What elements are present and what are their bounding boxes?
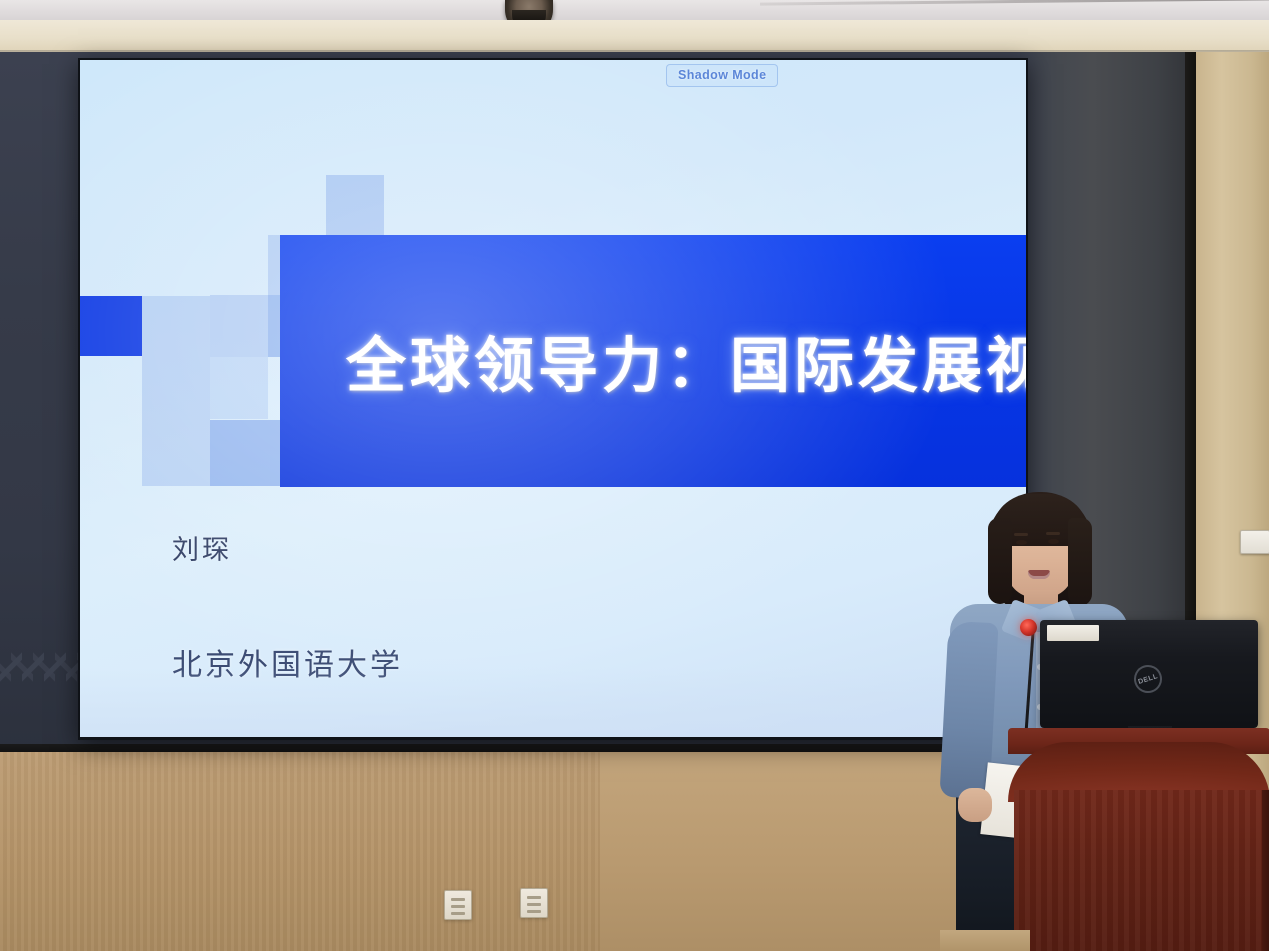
monitor-sticker bbox=[1047, 625, 1099, 641]
mosaic-square bbox=[142, 420, 210, 486]
eye-right bbox=[1048, 539, 1059, 544]
ceiling-beam bbox=[0, 20, 1269, 54]
mosaic-square bbox=[142, 296, 210, 356]
wall-outlet[interactable] bbox=[520, 888, 548, 918]
mosaic-square bbox=[142, 356, 210, 420]
presentation-slide: 全球领导力：国际发展视角 刘琛 北京外国语大学 bbox=[80, 60, 1026, 737]
slide-title: 全球领导力：国际发展视角 bbox=[346, 318, 1026, 405]
slide-presenter-name: 刘琛 bbox=[172, 528, 232, 567]
slide-affiliation: 北京外国语大学 bbox=[172, 640, 403, 684]
mosaic-square bbox=[326, 175, 384, 237]
mosaic-square bbox=[210, 357, 268, 419]
wall-outlet[interactable] bbox=[444, 890, 472, 920]
lower-wall-left bbox=[0, 752, 612, 951]
mouth bbox=[1028, 570, 1050, 579]
floor bbox=[940, 930, 1030, 951]
light-switch-plate[interactable] bbox=[1240, 530, 1269, 554]
podium-body bbox=[1014, 790, 1269, 951]
eyebrow-right bbox=[1046, 532, 1060, 535]
shadow-mode-badge: Shadow Mode bbox=[666, 64, 778, 87]
eye-left bbox=[1016, 540, 1027, 545]
mosaic-square bbox=[210, 295, 268, 357]
mosaic-square bbox=[210, 420, 280, 486]
hand-left bbox=[958, 788, 992, 822]
slide-title-banner: 全球领导力：国际发展视角 bbox=[280, 235, 1026, 487]
podium-side-edge bbox=[1262, 790, 1269, 951]
eyebrow-left bbox=[1014, 533, 1028, 536]
hair-right bbox=[1068, 518, 1092, 606]
hair-left bbox=[988, 518, 1012, 604]
scene-root: 全球领导力：国际发展视角 刘琛 北京外国语大学 Shadow Mode bbox=[0, 0, 1269, 951]
mosaic-square-solid bbox=[80, 296, 142, 356]
microphone-icon[interactable] bbox=[1020, 619, 1037, 636]
ceiling bbox=[0, 0, 1269, 22]
